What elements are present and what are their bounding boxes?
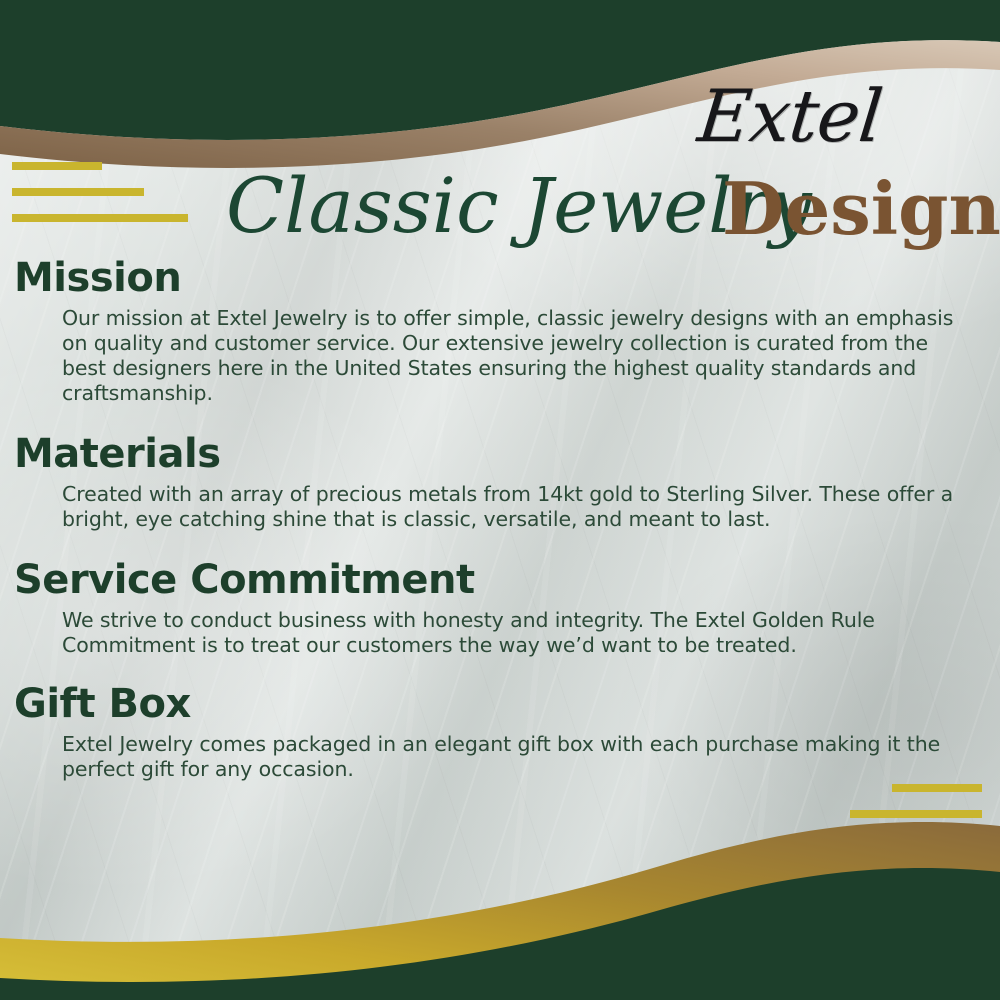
bottom-wave-decoration (0, 810, 1000, 1000)
section-heading-service-commitment: Service Commitment (14, 554, 1000, 606)
section-heading-mission: Mission (14, 252, 1000, 304)
section-mission: Mission Our mission at Extel Jewelry is … (0, 252, 1000, 406)
left-accent-lines (12, 162, 188, 222)
brand-logo: Extel (600, 72, 980, 160)
title-design: Design (722, 164, 1000, 254)
accent-line (12, 162, 102, 170)
brand-logo-text: Extel (595, 72, 984, 160)
section-gift-box: Gift Box Extel Jewelry comes packaged in… (0, 678, 1000, 782)
section-body-gift-box: Extel Jewelry comes packaged in an elega… (62, 732, 966, 782)
section-service-commitment: Service Commitment We strive to conduct … (0, 554, 1000, 658)
accent-line (892, 784, 982, 792)
section-body-materials: Created with an array of precious metals… (62, 482, 972, 532)
accent-line (12, 214, 188, 222)
section-materials: Materials Created with an array of preci… (0, 428, 1000, 532)
section-heading-materials: Materials (14, 428, 1000, 480)
section-body-mission: Our mission at Extel Jewelry is to offer… (62, 306, 966, 406)
section-body-service-commitment: We strive to conduct business with hones… (62, 608, 966, 658)
content-sections: Mission Our mission at Extel Jewelry is … (0, 252, 1000, 788)
accent-line (12, 188, 144, 196)
poster-canvas: Extel Classic Jewelry Design Mission Our… (0, 0, 1000, 1000)
section-heading-gift-box: Gift Box (14, 678, 1000, 730)
